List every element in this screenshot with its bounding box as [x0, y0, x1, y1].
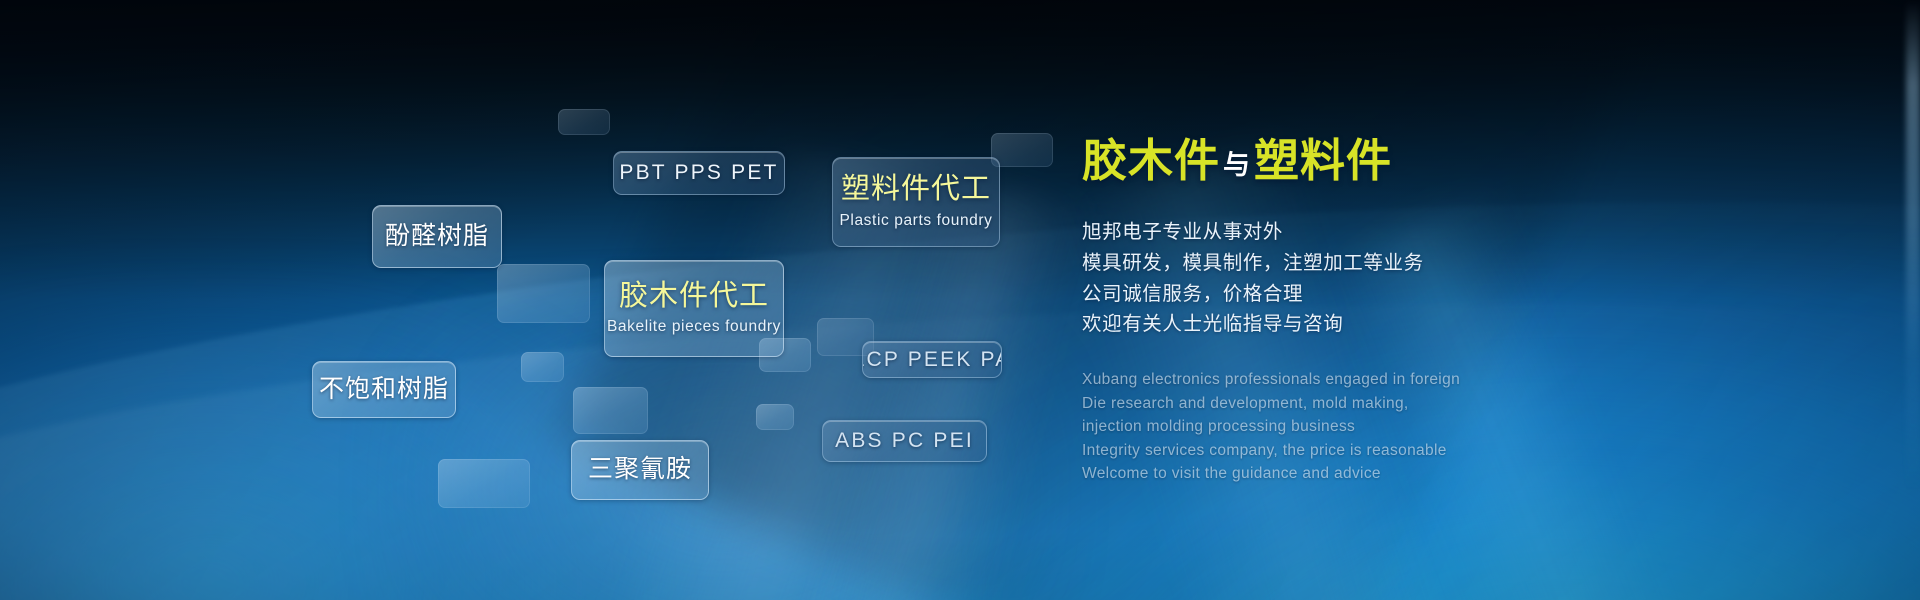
material-box-phenolic-resin[interactable]: 酚醛树脂 — [372, 205, 502, 268]
service-box-bakelite-foundry[interactable]: 胶木件代工 Bakelite pieces foundry — [604, 260, 784, 357]
description-cn-line: 模具研发，模具制作，注塑加工等业务 — [1082, 248, 1762, 279]
description-english: Xubang electronics professionals engaged… — [1082, 368, 1762, 486]
description-en-line: injection molding processing business — [1082, 415, 1762, 439]
material-codes-lcp-peek-pa[interactable]: LCP PEEK PA — [862, 341, 1002, 378]
material-label: 不饱和树脂 — [319, 376, 449, 404]
deco-rect-5 — [573, 387, 648, 434]
hero-text-panel: 胶木件与塑料件 旭邦电子专业从事对外 模具研发，模具制作，注塑加工等业务 公司诚… — [1082, 138, 1762, 486]
description-en-line: Xubang electronics professionals engaged… — [1082, 368, 1762, 392]
page-title: 胶木件与塑料件 — [1082, 138, 1762, 183]
service-title-en: Bakelite pieces foundry — [607, 318, 781, 336]
description-cn-line: 旭邦电子专业从事对外 — [1082, 217, 1762, 248]
service-box-plastic-foundry[interactable]: 塑料件代工 Plastic parts foundry — [832, 157, 1000, 247]
description-en-line: Integrity services company, the price is… — [1082, 439, 1762, 463]
description-en-line: Welcome to visit the guidance and advice — [1082, 462, 1762, 486]
material-box-melamine[interactable]: 三聚氰胺 — [571, 440, 709, 500]
service-title-cn: 胶木件代工 — [619, 281, 769, 313]
deco-rect-3 — [497, 264, 590, 323]
material-label: 酚醛树脂 — [385, 223, 489, 251]
headline-joiner: 与 — [1220, 150, 1254, 180]
hero-banner: 酚醛树脂 不饱和树脂 三聚氰胺 PBT PPS PET LCP PEEK PA … — [0, 0, 1920, 600]
material-codes-abs-pc-pei[interactable]: ABS PC PEI — [822, 420, 987, 462]
description-cn-line: 公司诚信服务，价格合理 — [1082, 279, 1762, 310]
description-chinese: 旭邦电子专业从事对外 模具研发，模具制作，注塑加工等业务 公司诚信服务，价格合理… — [1082, 217, 1762, 340]
deco-rect-8 — [438, 459, 530, 508]
deco-rect-7 — [756, 404, 794, 430]
description-en-line: Die research and development, mold makin… — [1082, 392, 1762, 416]
material-codes-label: LCP PEEK PA — [862, 348, 1002, 372]
headline-part-1: 胶木件 — [1082, 135, 1220, 186]
service-title-en: Plastic parts foundry — [839, 212, 992, 230]
material-label: 三聚氰胺 — [588, 456, 692, 484]
headline-part-2: 塑料件 — [1254, 135, 1392, 186]
material-codes-label: ABS PC PEI — [835, 429, 974, 453]
material-codes-pbt-pps-pet[interactable]: PBT PPS PET — [613, 151, 785, 195]
deco-rect-2 — [991, 133, 1053, 167]
material-box-unsaturated-resin[interactable]: 不饱和树脂 — [312, 361, 456, 418]
right-edge-highlight — [1906, 0, 1920, 600]
description-cn-line: 欢迎有关人士光临指导与咨询 — [1082, 309, 1762, 340]
deco-rect-1 — [558, 109, 610, 135]
service-title-cn: 塑料件代工 — [841, 174, 991, 206]
material-codes-label: PBT PPS PET — [619, 161, 778, 185]
deco-rect-4 — [521, 352, 564, 382]
